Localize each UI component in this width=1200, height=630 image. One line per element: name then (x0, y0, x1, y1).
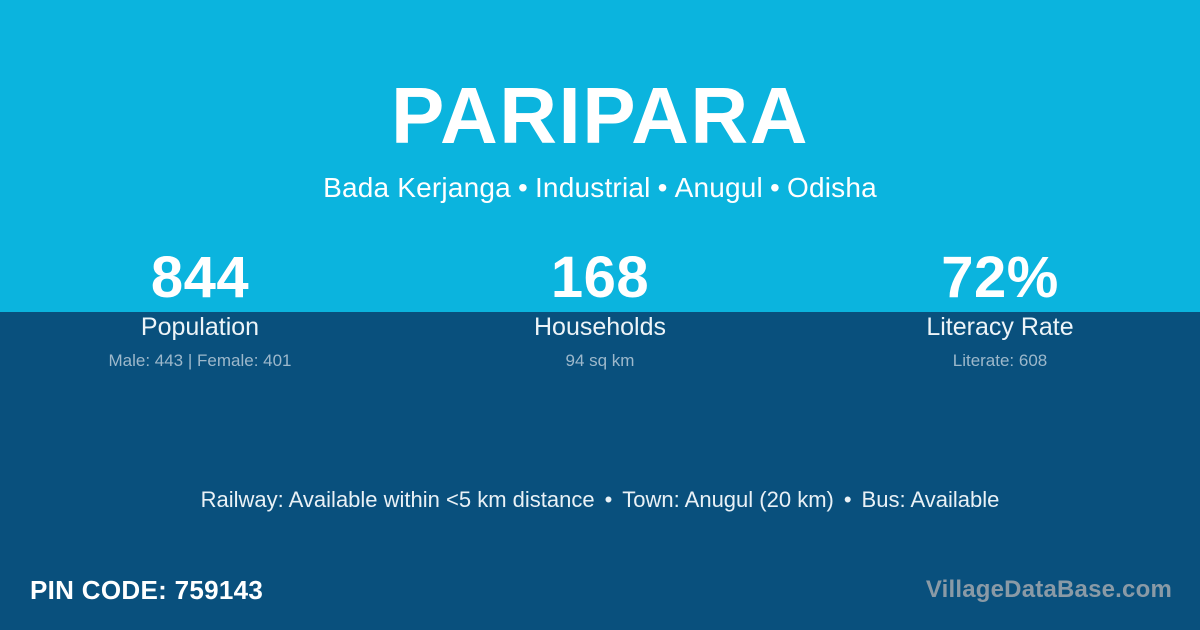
amenity-bus: Bus: Available (862, 487, 1000, 512)
amenity-separator: • (834, 487, 862, 512)
stats-row: 844 Population Male: 443 | Female: 401 1… (0, 246, 1200, 372)
amenities-line: Railway: Available within <5 km distance… (0, 485, 1200, 515)
stat-label: Population (0, 312, 400, 342)
breadcrumb-separator: • (763, 172, 787, 203)
breadcrumb-separator: • (651, 172, 675, 203)
stat-literacy-rate: 72% Literacy Rate Literate: 608 (800, 246, 1200, 372)
village-info-card: PARIPARA Bada Kerjanga•Industrial•Anugul… (0, 0, 1200, 630)
card-header: PARIPARA Bada Kerjanga•Industrial•Anugul… (0, 74, 1200, 204)
breadcrumb-separator: • (511, 172, 535, 203)
stat-value: 168 (400, 246, 800, 310)
stat-sublabel: Male: 443 | Female: 401 (0, 350, 400, 372)
breadcrumb-item-district: Anugul (675, 172, 763, 203)
page-title: PARIPARA (0, 74, 1200, 158)
stat-value: 72% (800, 246, 1200, 310)
breadcrumb-item-block: Industrial (535, 172, 651, 203)
brand-watermark: VillageDataBase.com (926, 574, 1172, 606)
breadcrumb: Bada Kerjanga•Industrial•Anugul•Odisha (0, 172, 1200, 204)
stat-label: Literacy Rate (800, 312, 1200, 342)
amenity-railway: Railway: Available within <5 km distance (201, 487, 595, 512)
stat-households: 168 Households 94 sq km (400, 246, 800, 372)
breadcrumb-item-state: Odisha (787, 172, 877, 203)
stat-value: 844 (0, 246, 400, 310)
stat-label: Households (400, 312, 800, 342)
breadcrumb-item-panchayat: Bada Kerjanga (323, 172, 511, 203)
amenity-separator: • (595, 487, 623, 512)
stat-population: 844 Population Male: 443 | Female: 401 (0, 246, 400, 372)
pin-code: PIN CODE: 759143 (30, 574, 263, 606)
amenity-town: Town: Anugul (20 km) (622, 487, 834, 512)
stat-sublabel: Literate: 608 (800, 350, 1200, 372)
stat-sublabel: 94 sq km (400, 350, 800, 372)
